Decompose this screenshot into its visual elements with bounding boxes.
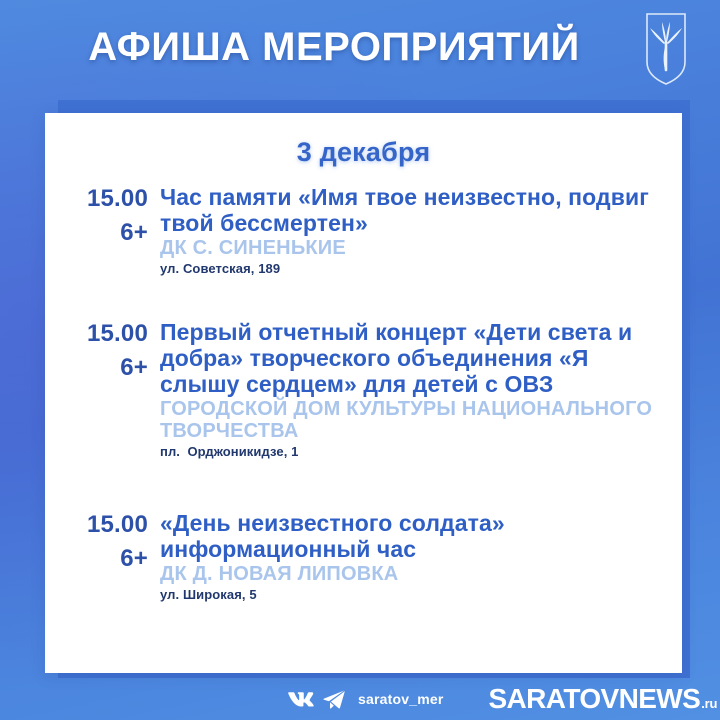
event-title: Час памяти «Имя твое неизвестно, подвиг … bbox=[160, 184, 666, 236]
telegram-icon[interactable] bbox=[323, 690, 345, 709]
event-poster: АФИША МЕРОПРИЯТИЙ 3 декабря 15.00 6+ Час bbox=[0, 0, 720, 720]
vk-icon[interactable] bbox=[288, 691, 314, 708]
event-meta: 15.00 6+ bbox=[55, 184, 160, 248]
event-time: 15.00 bbox=[55, 185, 148, 212]
social-links: saratov_mer bbox=[288, 690, 443, 709]
event-title: «День неизвестного солдата» информационн… bbox=[160, 510, 666, 562]
page-title: АФИША МЕРОПРИЯТИЙ bbox=[0, 24, 720, 70]
event-list: 15.00 6+ Час памяти «Имя твое неизвестно… bbox=[45, 184, 682, 603]
schedule-card: 3 декабря 15.00 6+ Час памяти «Имя твое … bbox=[45, 113, 682, 673]
date-heading: 3 декабря bbox=[45, 137, 682, 168]
event-venue: ДК С. СИНЕНЬКИЕ bbox=[160, 237, 666, 259]
brand-name: SARATOVNEWS bbox=[488, 683, 700, 715]
poster-footer: saratov_mer SARATOVNEWS .ru bbox=[0, 678, 720, 720]
list-item: 15.00 6+ Первый отчетный концерт «Дети с… bbox=[45, 319, 682, 460]
event-venue: ДК Д. НОВАЯ ЛИПОВКА bbox=[160, 563, 666, 585]
poster-header: АФИША МЕРОПРИЯТИЙ bbox=[0, 0, 720, 96]
event-time: 15.00 bbox=[55, 511, 148, 538]
list-item: 15.00 6+ «День неизвестного солдата» инф… bbox=[45, 510, 682, 603]
brand-tld: .ru bbox=[701, 696, 717, 711]
age-rating-badge: 6+ bbox=[55, 544, 148, 574]
saratov-coat-of-arms-icon bbox=[645, 12, 687, 86]
event-meta: 15.00 6+ bbox=[55, 319, 160, 383]
event-address: пл. Орджоникидзе, 1 bbox=[160, 444, 666, 460]
age-rating-badge: 6+ bbox=[55, 353, 148, 383]
event-venue: ГОРОДСКОЙ ДОМ КУЛЬТУРЫ НАЦИОНАЛЬНОГО ТВО… bbox=[160, 398, 666, 442]
event-body: Час памяти «Имя твое неизвестно, подвиг … bbox=[160, 184, 666, 277]
saratovnews-logo[interactable]: SARATOVNEWS .ru bbox=[488, 683, 717, 715]
social-handle[interactable]: saratov_mer bbox=[358, 691, 443, 707]
event-meta: 15.00 6+ bbox=[55, 510, 160, 574]
event-time: 15.00 bbox=[55, 320, 148, 347]
event-body: Первый отчетный концерт «Дети света и до… bbox=[160, 319, 666, 460]
list-item: 15.00 6+ Час памяти «Имя твое неизвестно… bbox=[45, 184, 682, 277]
age-rating-badge: 6+ bbox=[55, 218, 148, 248]
event-title: Первый отчетный концерт «Дети света и до… bbox=[160, 319, 666, 397]
event-address: ул. Советская, 189 bbox=[160, 261, 666, 277]
event-body: «День неизвестного солдата» информационн… bbox=[160, 510, 666, 603]
event-address: ул. Широкая, 5 bbox=[160, 587, 666, 603]
